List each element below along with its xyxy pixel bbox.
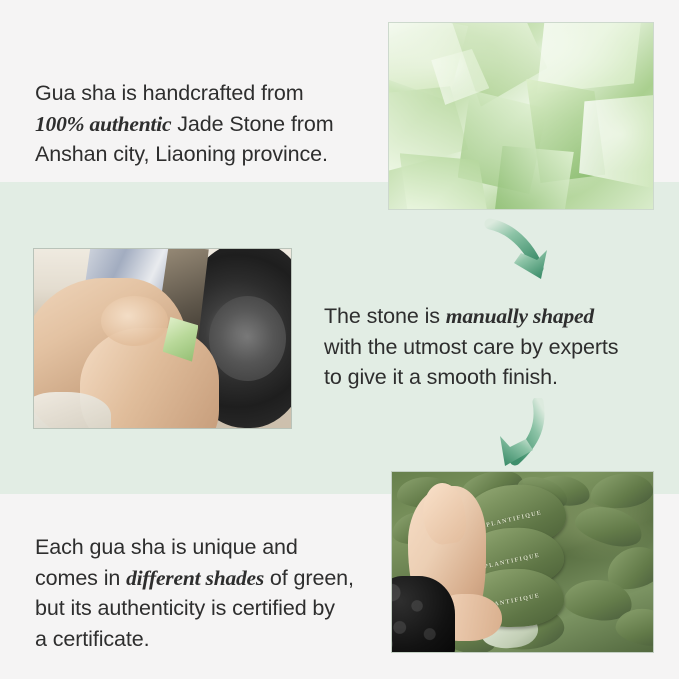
step-1-line-1: Gua sha is handcrafted from xyxy=(35,78,375,109)
raw-jade-stone-photo xyxy=(388,22,654,210)
grinding-wheel-hub xyxy=(209,296,286,382)
step-3-line-4: a certificate. xyxy=(35,624,385,655)
jade-shard xyxy=(495,146,574,209)
step-2-emphasis: manually shaped xyxy=(446,304,594,328)
step-2-line-1-rest: The stone is xyxy=(324,304,446,328)
step-3-emphasis: different shades xyxy=(126,566,264,590)
step-1-line-3: Anshan city, Liaoning province. xyxy=(35,139,375,170)
step-2-line-1: The stone is manually shaped xyxy=(324,301,664,332)
craftsman-shaping-photo-inner xyxy=(34,249,291,428)
guasha-tools-in-hand-photo-inner: PLANTIFIQUE PLANTIFIQUE PLANTIFIQUE xyxy=(392,472,653,652)
step-1-line-2-rest: Jade Stone from xyxy=(171,112,333,136)
step-3-line-3: but its authenticity is certified by xyxy=(35,593,385,624)
craftsman-shaping-photo xyxy=(33,248,292,429)
jade-shard xyxy=(537,23,643,94)
step-2-line-2: with the utmost care by experts xyxy=(324,332,664,363)
raw-jade-stone-photo-inner xyxy=(389,23,653,209)
step-3-text: Each gua sha is unique and comes in diff… xyxy=(35,532,385,655)
step-2-line-3: to give it a smooth finish. xyxy=(324,362,664,393)
step-1-emphasis: 100% authentic xyxy=(35,112,171,136)
step-1-text: Gua sha is handcrafted from 100% authent… xyxy=(35,78,375,170)
step-2-text: The stone is manually shaped with the ut… xyxy=(324,301,664,393)
arrow-step2-to-step3-icon xyxy=(481,398,581,472)
black-knit-sleeve xyxy=(392,576,455,652)
engraved-brand-label: PLANTIFIQUE xyxy=(483,552,540,571)
guasha-tools-in-hand-photo: PLANTIFIQUE PLANTIFIQUE PLANTIFIQUE xyxy=(391,471,654,653)
guasha-infographic: Gua sha is handcrafted from 100% authent… xyxy=(0,0,679,679)
step-1-line-2: 100% authentic Jade Stone from xyxy=(35,109,375,140)
step-3-line-1: Each gua sha is unique and xyxy=(35,532,385,563)
jade-shard xyxy=(400,153,490,209)
engraved-brand-label: PLANTIFIQUE xyxy=(486,509,543,529)
step-3-line-2-rest-a: comes in xyxy=(35,566,126,590)
arrow-step1-to-step2-icon xyxy=(484,218,584,288)
step-3-line-2: comes in different shades of green, xyxy=(35,563,385,594)
step-3-line-2-rest-b: of green, xyxy=(264,566,354,590)
knuckle-highlight xyxy=(101,296,168,346)
